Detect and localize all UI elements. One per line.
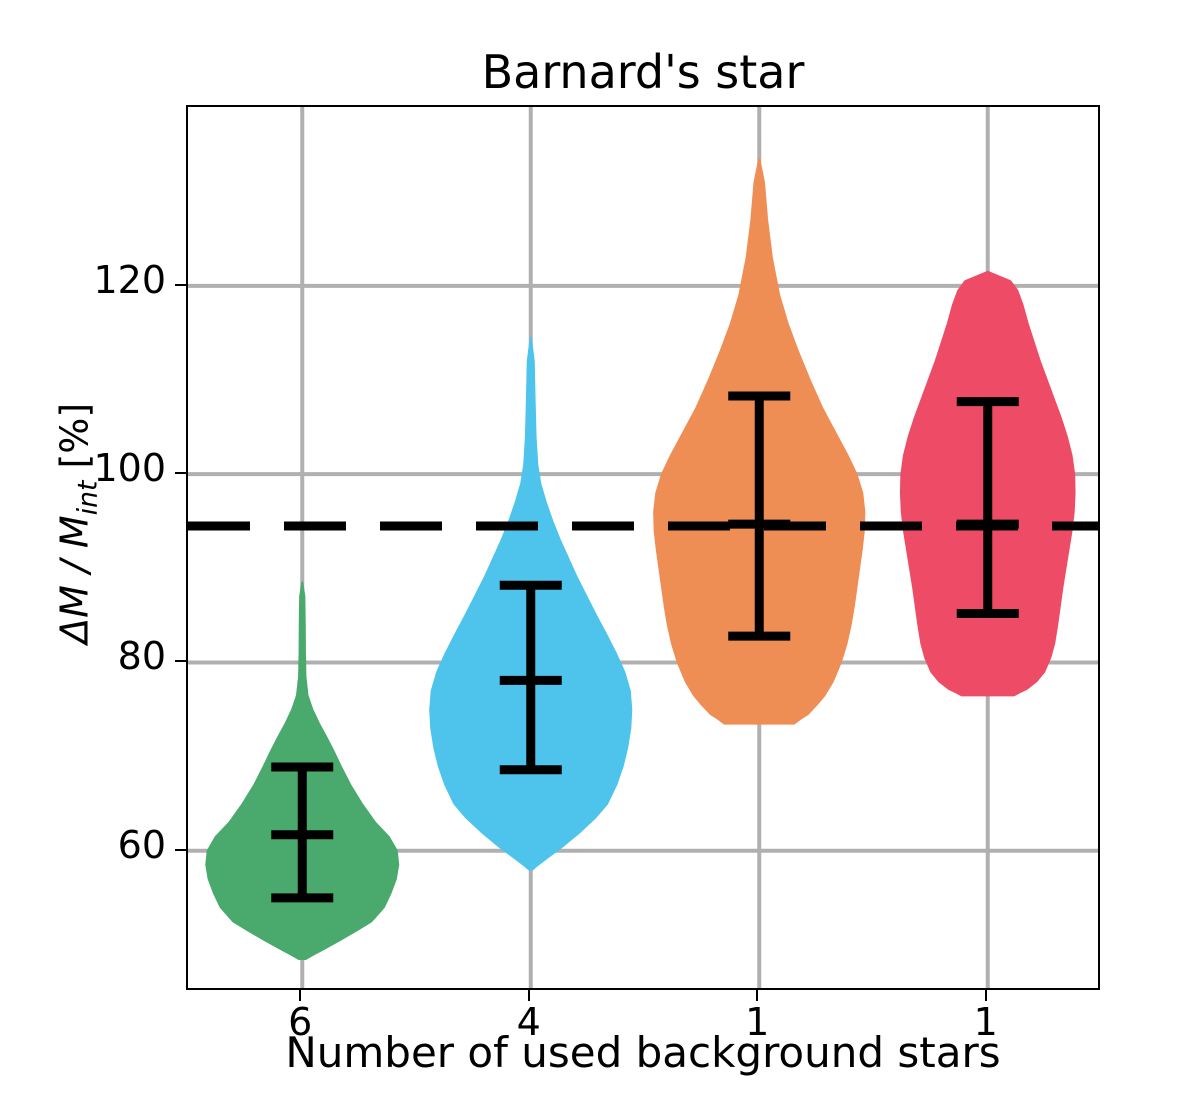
x-axis-tick-mark (299, 990, 301, 1001)
y-axis-tick-label: 60 (0, 823, 166, 867)
x-axis-tick-mark (528, 990, 530, 1001)
y-axis-tick-mark (175, 849, 186, 851)
violin-plot-figure: Barnard's star ΔM / Mint [%] 6080100120 … (0, 0, 1200, 1100)
y-axis-label: ΔM / Mint [%] (53, 213, 104, 833)
page-title: Barnard's star (186, 48, 1100, 96)
x-axis-tick-mark (756, 990, 758, 1001)
y-axis-tick-mark (175, 660, 186, 662)
y-axis-tick-mark (175, 472, 186, 474)
plot-area (186, 105, 1100, 990)
x-axis-label: Number of used background stars (186, 1028, 1100, 1077)
x-axis-tick-mark (985, 990, 987, 1001)
y-axis-tick-label: 100 (0, 446, 166, 490)
y-axis-label-main: ΔM / M (53, 515, 97, 644)
y-axis-tick-mark (175, 284, 186, 286)
y-axis-tick-label: 120 (0, 258, 166, 302)
violin-plot-canvas (188, 107, 1100, 990)
y-axis-tick-label: 80 (0, 634, 166, 678)
